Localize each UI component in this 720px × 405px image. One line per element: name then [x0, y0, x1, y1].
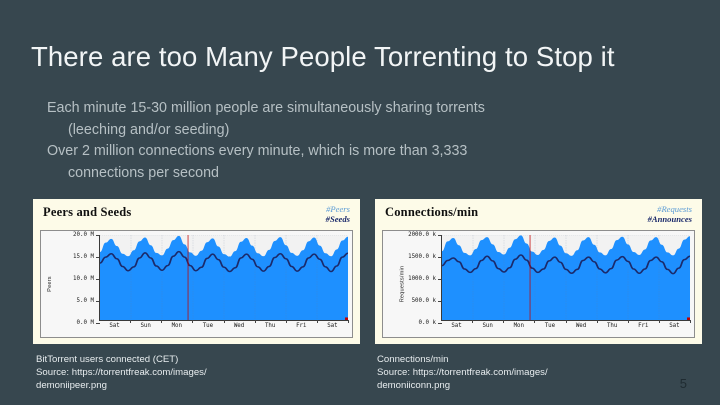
slide-canvas: There are too Many People Torrenting to …	[0, 0, 720, 405]
x-axis-tick-label: Sat	[451, 323, 461, 329]
caption-line-3: demoniipeer.png	[36, 380, 366, 393]
caption-line-2: Source: https://torrentfreak.com/images/	[377, 367, 707, 380]
x-axis-tick-label: Tue	[545, 323, 555, 329]
x-tick-mark	[161, 320, 162, 323]
caption-line-3: demoniiconn.png	[377, 380, 707, 393]
list-item: Over 2 million connections every minute,…	[47, 141, 687, 184]
chart-legend: #Peers #Seeds	[326, 204, 350, 224]
slide-number: 5	[680, 376, 687, 391]
y-axis-ticks: 0.0 M5.0 M10.0 M15.0 M20.0 M	[51, 231, 97, 337]
x-tick-mark	[534, 320, 535, 323]
x-axis-tick-label: Sun	[140, 323, 150, 329]
x-tick-mark	[348, 320, 349, 323]
chart-title: Connections/min	[385, 205, 478, 220]
x-axis-tick-label: Wed	[576, 323, 586, 329]
legend-item-announces: #Announces	[648, 214, 692, 224]
x-axis-tick-label: Mon	[172, 323, 182, 329]
x-tick-mark	[628, 320, 629, 323]
chart-plot-area: Peers 0.0 M5.0 M10.0 M15.0 M20.0 M SatSu…	[40, 230, 353, 338]
x-tick-mark	[472, 320, 473, 323]
y-axis-tick: 1000.0 k	[408, 276, 436, 282]
y-axis-tick: 2000.0 k	[408, 232, 436, 238]
x-axis-tick-label: Mon	[514, 323, 524, 329]
y-axis-tick: 20.0 M	[73, 232, 94, 238]
x-axis-tick-label: Wed	[234, 323, 244, 329]
x-tick-mark	[130, 320, 131, 323]
x-tick-mark	[597, 320, 598, 323]
chart-title: Peers and Seeds	[43, 205, 131, 220]
bullet-list: Each minute 15-30 million people are sim…	[47, 98, 687, 184]
chart-panel-connections-per-min: Connections/min #Requests #Announces Req…	[375, 199, 702, 344]
bullet-line-2: connections per second	[47, 163, 687, 185]
x-axis-tick-label: Sat	[327, 323, 337, 329]
chart-caption-right: Connections/min Source: https://torrentf…	[377, 354, 707, 392]
chart-caption-left: BitTorrent users connected (CET) Source:…	[36, 354, 366, 392]
x-tick-mark	[317, 320, 318, 323]
x-axis-tick-label: Sat	[669, 323, 679, 329]
x-axis-tick-label: Thu	[607, 323, 617, 329]
y-axis-tick: 10.0 M	[73, 276, 94, 282]
chart-plot-area: Requests/min 0.0 k500.0 k1000.0 k1500.0 …	[382, 230, 695, 338]
x-tick-mark	[566, 320, 567, 323]
x-axis-tick-label: Sat	[109, 323, 119, 329]
x-axis-labels: SatSunMonTueWedThuFriSat	[441, 323, 690, 335]
x-tick-mark	[659, 320, 660, 323]
x-tick-mark	[503, 320, 504, 323]
chart-header: Peers and Seeds #Peers #Seeds	[40, 204, 353, 230]
x-tick-mark	[286, 320, 287, 323]
y-axis-tick: 5.0 M	[77, 298, 94, 304]
legend-item-peers: #Peers	[326, 204, 350, 214]
x-tick-mark	[224, 320, 225, 323]
legend-item-requests: #Requests	[648, 204, 692, 214]
x-tick-mark	[255, 320, 256, 323]
legend-item-seeds: #Seeds	[326, 214, 350, 224]
bullet-line-1: Each minute 15-30 million people are sim…	[47, 100, 485, 116]
y-axis-tick: 1500.0 k	[408, 254, 436, 260]
x-axis-tick-label: Thu	[265, 323, 275, 329]
x-tick-mark	[690, 320, 691, 323]
caption-line-2: Source: https://torrentfreak.com/images/	[36, 367, 366, 380]
x-axis-tick-label: Fri	[638, 323, 648, 329]
bullet-line-1: Over 2 million connections every minute,…	[47, 143, 467, 159]
page-title: There are too Many People Torrenting to …	[31, 41, 691, 73]
caption-line-1: BitTorrent users connected (CET)	[36, 354, 366, 367]
chart-graph	[441, 235, 690, 321]
chart-graph	[99, 235, 348, 321]
x-axis-tick-label: Tue	[203, 323, 213, 329]
x-axis-labels: SatSunMonTueWedThuFriSat	[99, 323, 348, 335]
bullet-line-2: (leeching and/or seeding)	[47, 120, 687, 142]
list-item: Each minute 15-30 million people are sim…	[47, 98, 687, 141]
y-axis-tick: 500.0 k	[412, 298, 436, 304]
y-axis-tick: 15.0 M	[73, 254, 94, 260]
chart-panel-peers-and-seeds: Peers and Seeds #Peers #Seeds Peers 0.0 …	[33, 199, 360, 344]
x-tick-mark	[192, 320, 193, 323]
caption-line-1: Connections/min	[377, 354, 707, 367]
x-axis-tick-label: Fri	[296, 323, 306, 329]
x-axis-tick-label: Sun	[482, 323, 492, 329]
y-axis-ticks: 0.0 k500.0 k1000.0 k1500.0 k2000.0 k	[393, 231, 439, 337]
chart-header: Connections/min #Requests #Announces	[382, 204, 695, 230]
y-axis-tick: 0.0 k	[419, 320, 436, 326]
y-axis-tick: 0.0 M	[77, 320, 94, 326]
chart-legend: #Requests #Announces	[648, 204, 692, 224]
